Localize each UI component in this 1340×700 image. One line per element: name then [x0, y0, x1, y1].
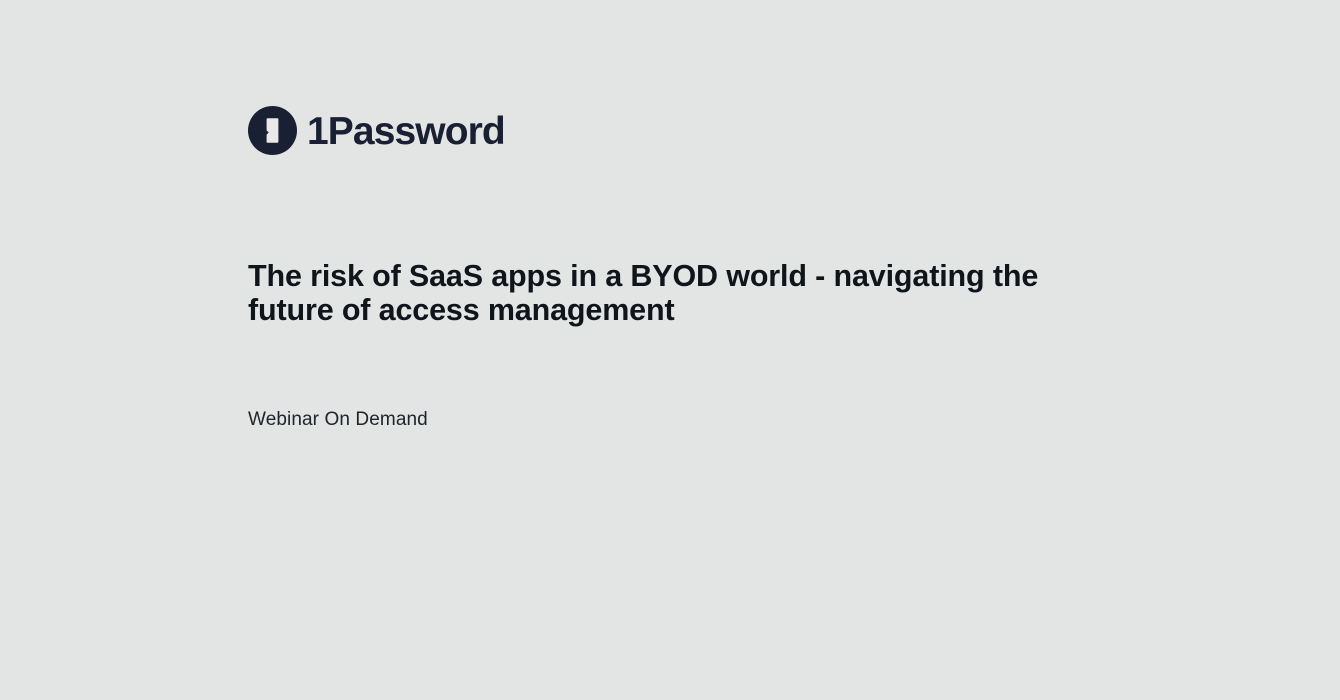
- brand-lockup: 1Password: [248, 106, 505, 155]
- page-background: 1Password The risk of SaaS apps in a BYO…: [0, 0, 1340, 700]
- content-type-label: Webinar On Demand: [248, 408, 428, 432]
- page-title: The risk of SaaS apps in a BYOD world - …: [248, 259, 1078, 327]
- 1password-logo-icon: [248, 106, 297, 155]
- brand-wordmark: 1Password: [307, 112, 505, 151]
